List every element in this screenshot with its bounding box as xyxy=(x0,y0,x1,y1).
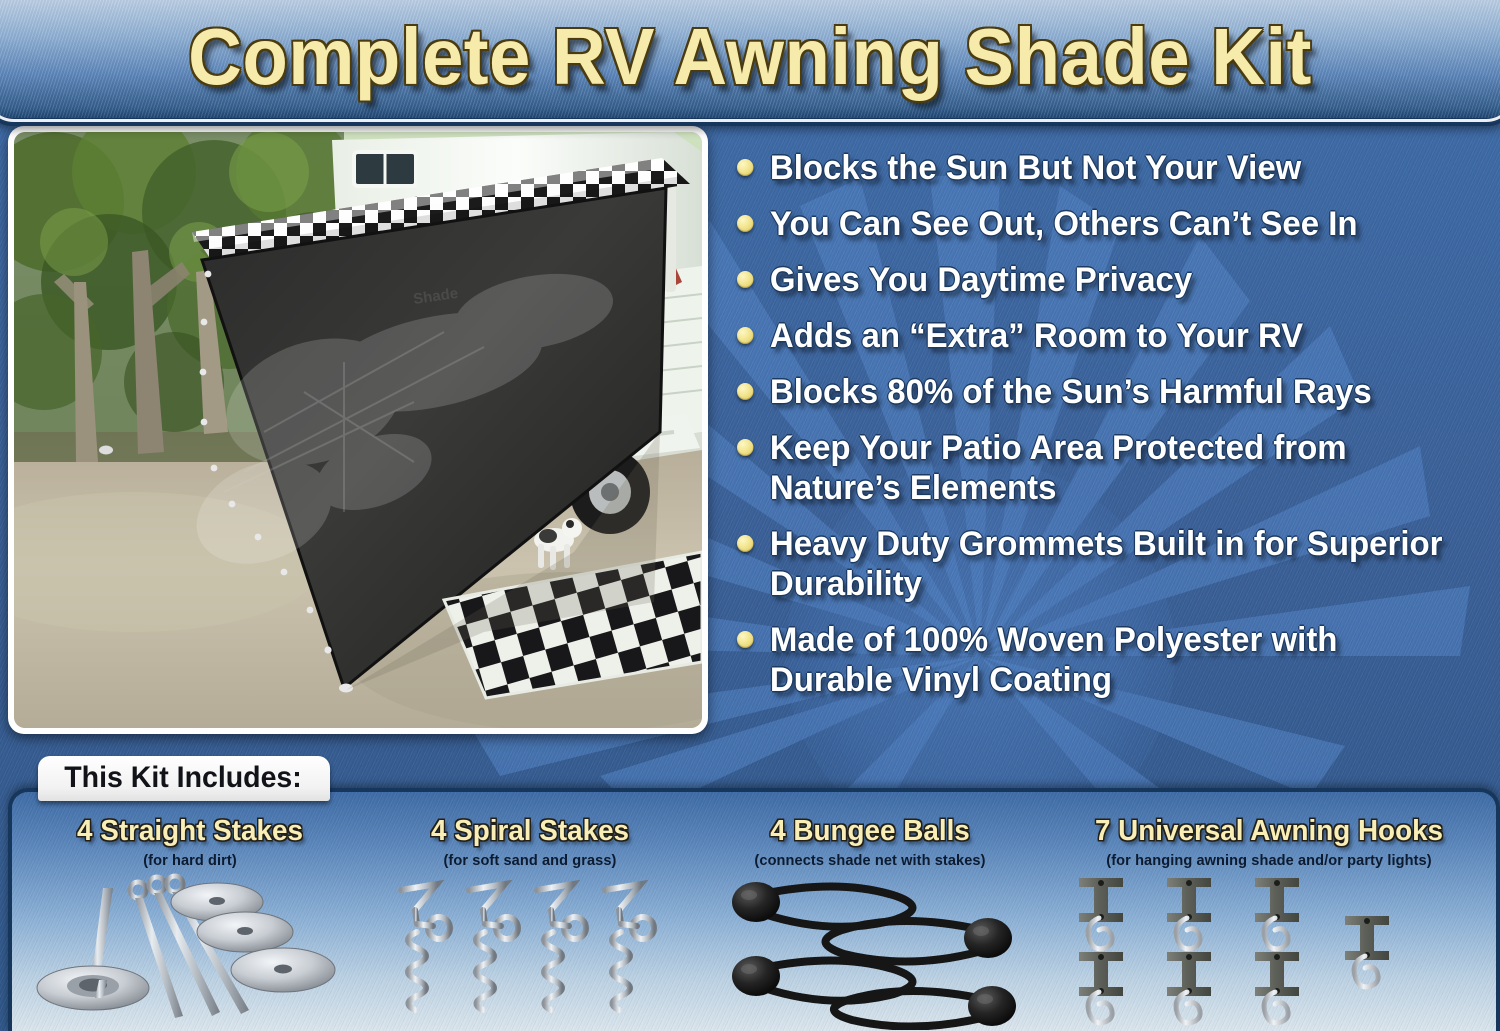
feature-text: Made of 100% Woven Polyester with Durabl… xyxy=(770,621,1338,699)
feature-text: Keep Your Patio Area Protected from Natu… xyxy=(770,429,1347,507)
product-photo-image: Shade xyxy=(14,132,702,728)
kit-item-title: 7 Universal Awning Hooks xyxy=(1049,814,1489,848)
rv-awning-scene-svg: Shade xyxy=(14,132,702,728)
kit-item-title: 4 Straight Stakes xyxy=(27,814,353,848)
feature-text: Blocks 80% of the Sun’s Harmful Rays xyxy=(770,373,1372,411)
page-title: Complete RV Awning Shade Kit xyxy=(53,11,1448,103)
kit-item-straight-stakes: 4 Straight Stakes (for hard dirt) xyxy=(20,814,360,1030)
feature-text: Adds an “Extra” Room to Your RV xyxy=(770,317,1303,355)
kit-item-subtitle: (for soft sand and grass) xyxy=(365,851,695,870)
kit-includes-tab: This Kit Includes: xyxy=(38,756,330,801)
feature-text: Heavy Duty Grommets Built in for Superio… xyxy=(770,525,1443,603)
bullet-dot-icon xyxy=(737,215,753,232)
kit-item-subtitle: (for hard dirt) xyxy=(25,851,355,870)
kit-includes-label: This Kit Includes: xyxy=(64,759,302,797)
feature-item: You Can See Out, Others Can’t See In xyxy=(735,204,1467,244)
kit-item-title: 4 Bungee Balls xyxy=(707,814,1033,848)
feature-item: Gives You Daytime Privacy xyxy=(735,260,1467,300)
spiral-stake-icon xyxy=(360,870,700,1030)
awning-hook-icon xyxy=(1040,870,1498,1030)
kit-item-bungee-balls: 4 Bungee Balls (connects shade net with … xyxy=(700,814,1040,1030)
bullet-dot-icon xyxy=(737,383,753,400)
feature-item: Made of 100% Woven Polyester with Durabl… xyxy=(735,620,1467,700)
product-photo: Shade xyxy=(8,126,708,734)
feature-item: Adds an “Extra” Room to Your RV xyxy=(735,316,1467,356)
feature-text: Gives You Daytime Privacy xyxy=(770,261,1192,299)
feature-list: Blocks the Sun But Not Your View You Can… xyxy=(735,148,1490,716)
feature-item: Heavy Duty Grommets Built in for Superio… xyxy=(735,524,1467,604)
bullet-dot-icon xyxy=(737,271,753,288)
straight-stake-icon xyxy=(20,870,360,1030)
bullet-dot-icon xyxy=(737,535,753,552)
feature-text: Blocks the Sun But Not Your View xyxy=(770,149,1301,187)
bungee-ball-icon xyxy=(700,870,1040,1030)
kit-contents-panel: 4 Straight Stakes (for hard dirt) xyxy=(8,788,1500,1031)
kit-item-awning-hooks: 7 Universal Awning Hooks (for hanging aw… xyxy=(1040,814,1498,1030)
kit-item-spiral-stakes: 4 Spiral Stakes (for soft sand and grass… xyxy=(360,814,700,1030)
bullet-dot-icon xyxy=(737,439,753,456)
kit-item-title: 4 Spiral Stakes xyxy=(367,814,693,848)
kit-item-subtitle: (connects shade net with stakes) xyxy=(705,851,1035,870)
bullet-dot-icon xyxy=(737,327,753,344)
bullet-dot-icon xyxy=(737,159,753,176)
feature-item: Blocks 80% of the Sun’s Harmful Rays xyxy=(735,372,1467,412)
feature-item: Keep Your Patio Area Protected from Natu… xyxy=(735,428,1467,508)
product-infographic: Shade xyxy=(0,0,1500,1031)
feature-item: Blocks the Sun But Not Your View xyxy=(735,148,1467,188)
bullet-dot-icon xyxy=(737,631,753,648)
kit-item-subtitle: (for hanging awning shade and/or party l… xyxy=(1047,851,1491,870)
feature-text: You Can See Out, Others Can’t See In xyxy=(770,205,1358,243)
